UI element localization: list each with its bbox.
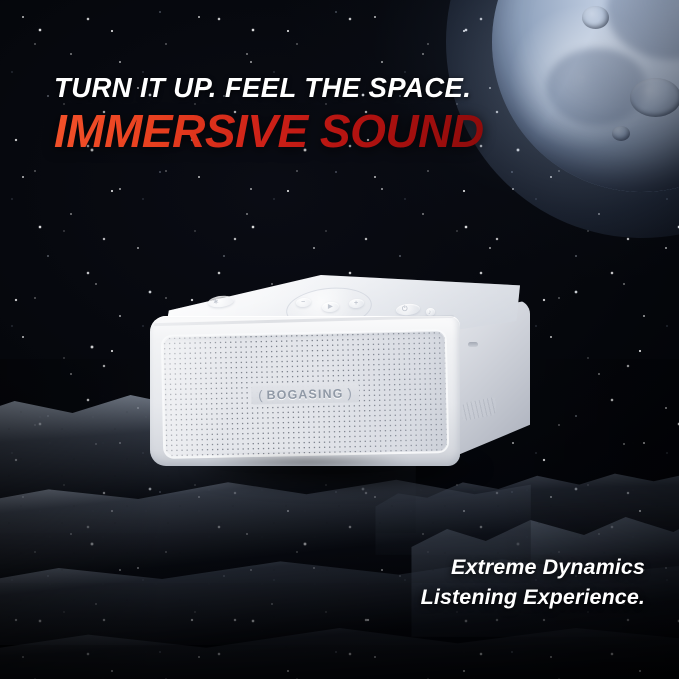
brand-logo: ( BOGASING ) xyxy=(251,383,359,404)
headline-block: TURN IT UP. FEEL THE SPACE. IMMERSIVE SO… xyxy=(54,74,484,154)
bluetooth-speaker: ✶ − ▶ + ⏻ ♪ ( BOGASING ) xyxy=(150,272,530,477)
speaker-contact-shadow xyxy=(168,458,448,474)
advertisement-canvas: TURN IT UP. FEEL THE SPACE. IMMERSIVE SO… xyxy=(0,0,679,679)
power-icon: ⏻ xyxy=(402,306,408,314)
tagline-line-1: Extreme Dynamics xyxy=(421,552,645,583)
tagline-block: Extreme Dynamics Listening Experience. xyxy=(421,552,645,613)
speaker-side-port xyxy=(468,342,478,347)
bluetooth-icon: ✶ xyxy=(213,298,220,307)
brand-name: BOGASING xyxy=(266,386,343,402)
headline-primary: TURN IT UP. FEEL THE SPACE. xyxy=(54,74,484,103)
logo-right-mark: ) xyxy=(347,386,352,401)
plus-icon: + xyxy=(354,300,359,307)
tagline-line-2: Listening Experience. xyxy=(421,582,645,613)
logo-left-mark: ( xyxy=(258,387,263,402)
play-icon: ▶ xyxy=(328,303,333,310)
headline-accent: IMMERSIVE SOUND xyxy=(54,108,484,154)
minus-icon: − xyxy=(301,299,306,306)
